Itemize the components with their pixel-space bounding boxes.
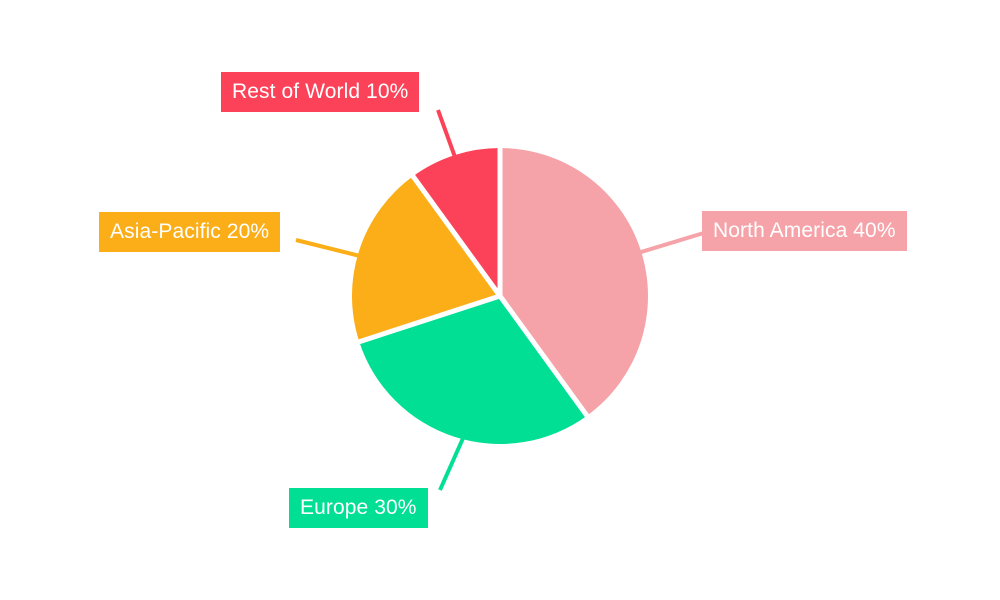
pie-chart-canvas [0, 0, 1000, 600]
slice-label-north-america[interactable]: North America 40% [702, 211, 907, 251]
slice-label-rest-of-world[interactable]: Rest of World 10% [221, 72, 419, 112]
slice-label-asia-pacific-text: Asia-Pacific 20% [110, 220, 269, 243]
slice-label-asia-pacific[interactable]: Asia-Pacific 20% [99, 212, 280, 252]
pie-chart-figure: North America 40% Europe 30% Asia-Pacifi… [0, 0, 1000, 600]
slice-label-europe[interactable]: Europe 30% [289, 488, 428, 528]
slice-label-rest-of-world-text: Rest of World 10% [232, 80, 408, 103]
slice-label-europe-text: Europe 30% [300, 496, 417, 519]
slice-label-north-america-text: North America 40% [713, 219, 896, 242]
